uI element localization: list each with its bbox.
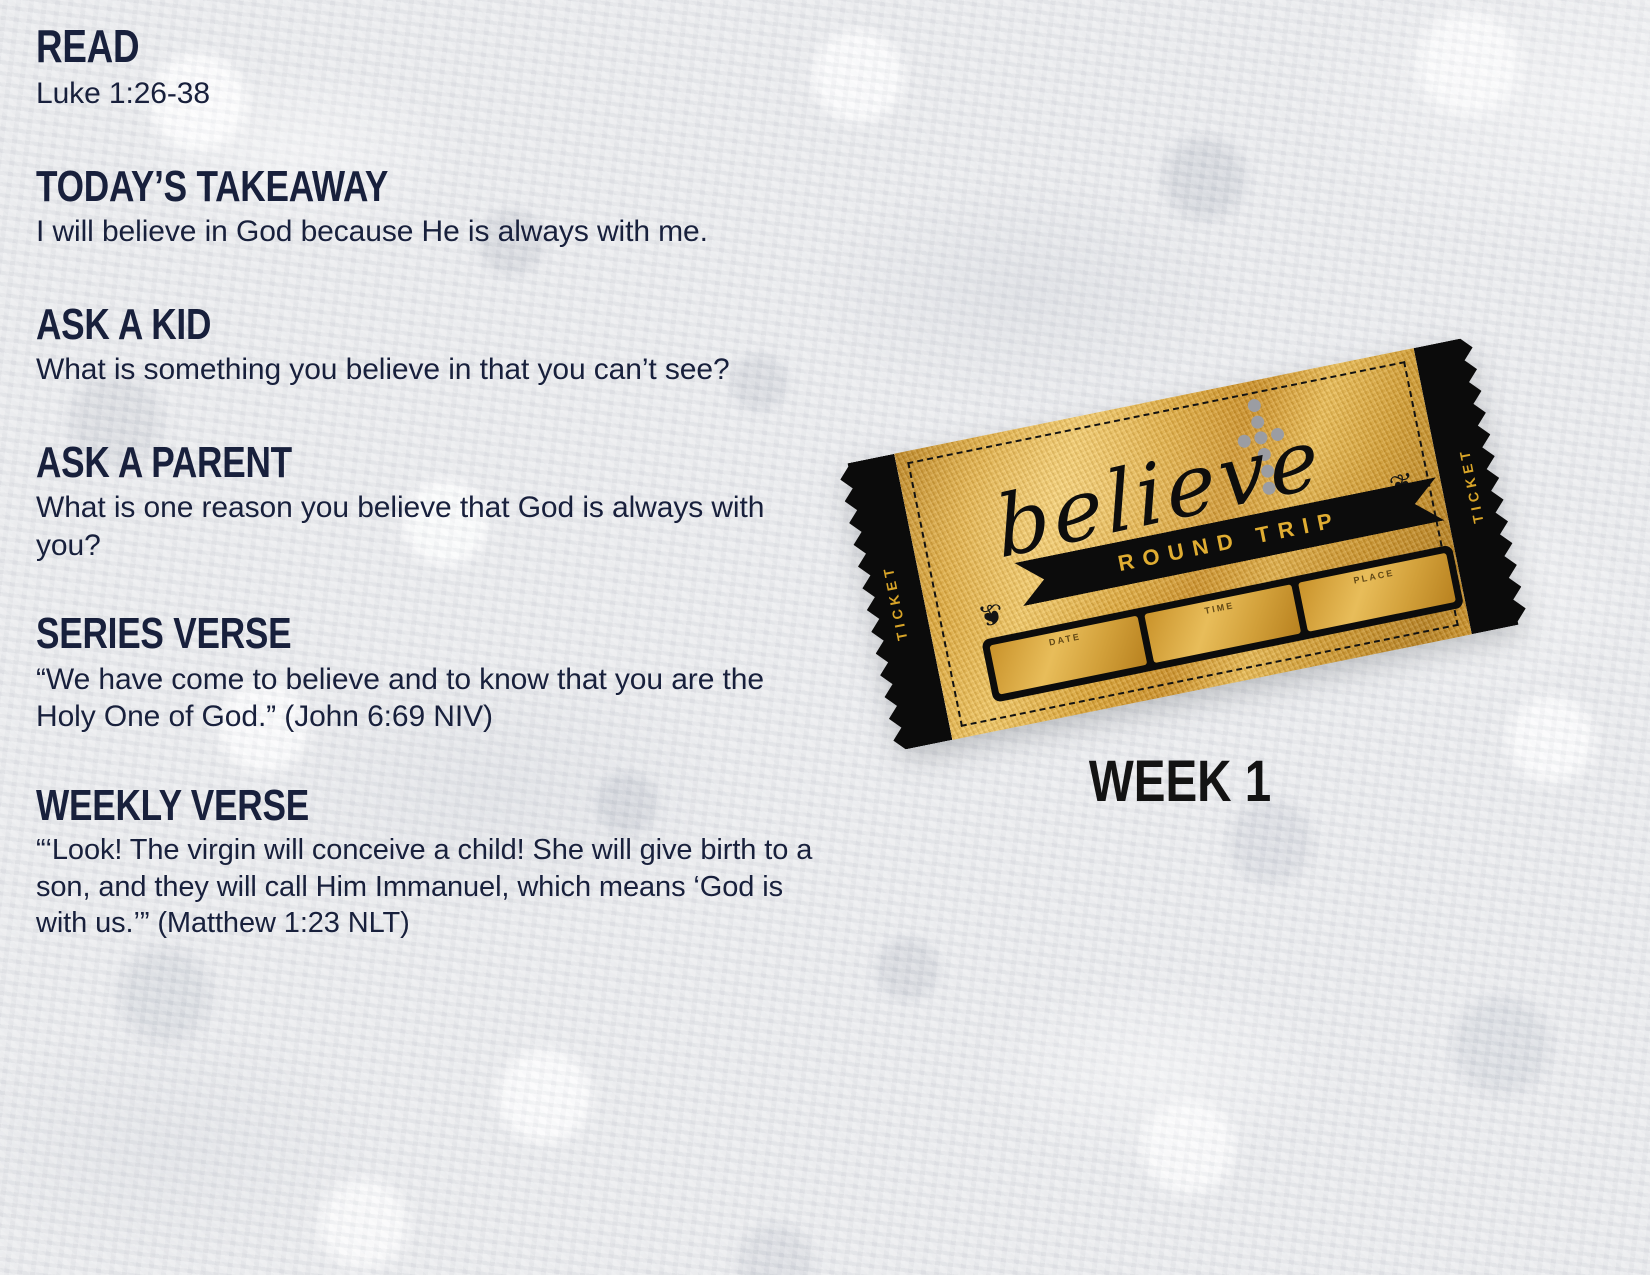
body-series-verse: “We have come to believe and to know tha… [36,661,826,737]
ticket-body: believe ❦ ❦ ROUND TRIP DATE TIME PLACE [894,348,1472,740]
section-ask-a-parent: ASK A PARENT What is one reason you beli… [36,441,826,565]
body-ask-a-kid: What is something you believe in that yo… [36,351,826,389]
section-series-verse: SERIES VERSE “We have come to believe an… [36,612,826,736]
heading-read: READ [36,24,668,69]
ticket-stub-left-label: TICKET [879,563,910,642]
body-ask-a-parent: What is one reason you believe that God … [36,489,826,565]
ticket-card: TICKET believe ❦ ❦ [837,337,1528,752]
section-todays-takeaway: TODAY’S TAKEAWAY I will believe in God b… [36,165,826,251]
ornament-dot [1247,398,1262,413]
heading-series-verse: SERIES VERSE [36,612,668,655]
section-ask-a-kid: ASK A KID What is something you believe … [36,303,826,389]
ticket-field-date-label: DATE [1048,631,1082,647]
ticket-stub-right-label: TICKET [1456,446,1487,525]
heading-todays-takeaway: TODAY’S TAKEAWAY [36,165,668,208]
body-weekly-verse: “‘Look! The virgin will conceive a child… [36,832,826,942]
ticket-field-place-label: PLACE [1353,568,1396,586]
slide-canvas: READ Luke 1:26-38 TODAY’S TAKEAWAY I wil… [0,0,1650,1275]
body-read: Luke 1:26-38 [36,75,826,113]
section-weekly-verse: WEEKLY VERSE “‘Look! The virgin will con… [36,784,826,942]
ticket-field-time-label: TIME [1204,600,1236,616]
body-todays-takeaway: I will believe in God because He is alwa… [36,213,826,251]
week-label: WEEK 1 [1082,748,1279,815]
heading-ask-a-parent: ASK A PARENT [36,441,668,484]
heading-weekly-verse: WEEKLY VERSE [36,784,668,827]
heading-ask-a-kid: ASK A KID [36,303,668,346]
devotional-text-column: READ Luke 1:26-38 TODAY’S TAKEAWAY I wil… [36,24,826,942]
section-read: READ Luke 1:26-38 [36,24,826,113]
ticket-graphic: TICKET believe ❦ ❦ [848,372,1528,742]
